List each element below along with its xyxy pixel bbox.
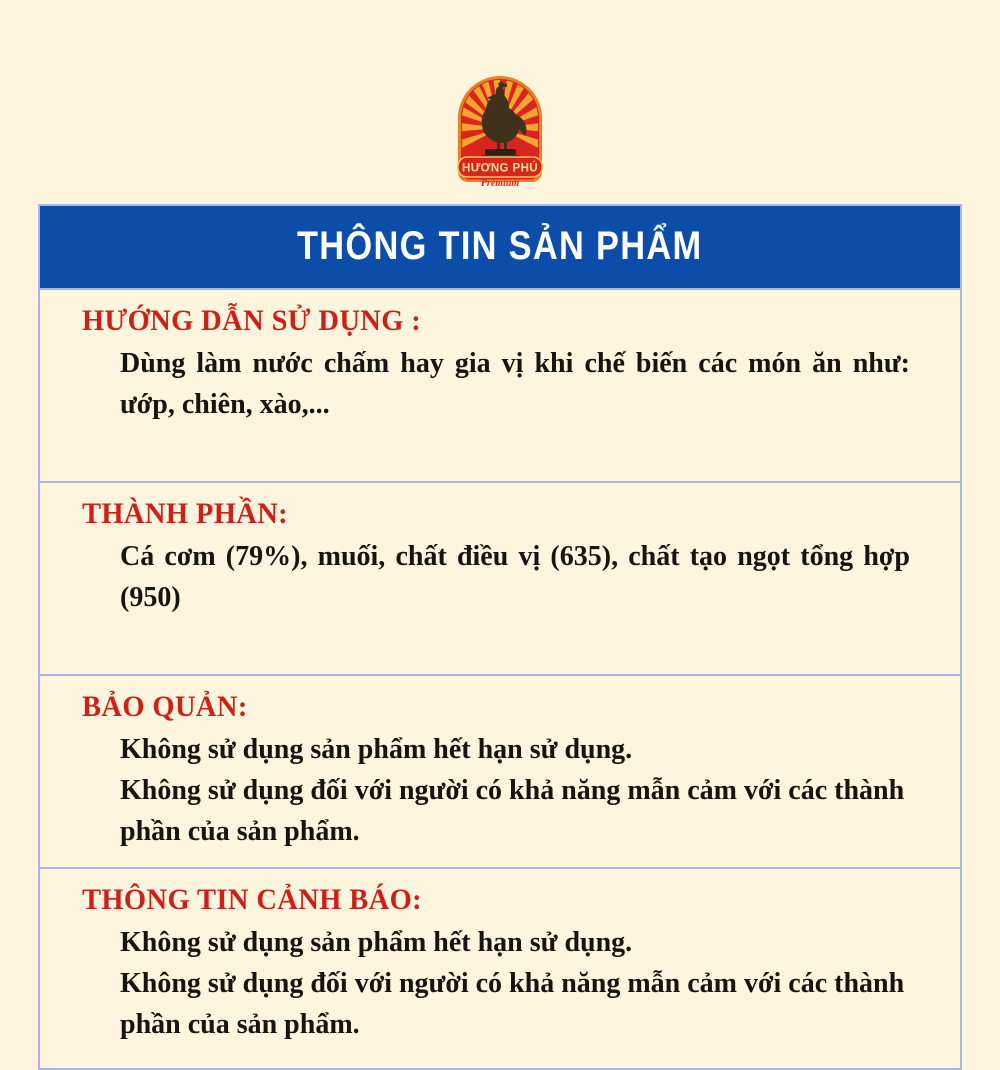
body-line: Không sử dụng đối với người có khả năng … (120, 964, 910, 1046)
product-info-page: HƯƠNG PHÚ Premium THÔNG TIN SẢN PHẨM HƯỚ… (0, 0, 1000, 1000)
rooster-badge-icon: HƯƠNG PHÚ Premium (452, 72, 548, 190)
huong-phu-rooster-logo: HƯƠNG PHÚ Premium (452, 72, 548, 190)
section-huong-dan-su-dung: HƯỚNG DẪN SỬ DỤNG : Dùng làm nước chấm h… (40, 290, 960, 483)
logo-brand-text: HƯƠNG PHÚ (462, 162, 538, 175)
body-line: Không sử dụng sản phẩm hết hạn sử dụng. (120, 730, 910, 771)
section-thong-tin-canh-bao: THÔNG TIN CẢNH BÁO: Không sử dụng sản ph… (40, 869, 960, 1068)
section-title-storage: BẢO QUẢN: (82, 688, 884, 726)
body-line: Không sử dụng sản phẩm hết hạn sử dụng. (120, 923, 910, 964)
logo-tagline-text: Premium (481, 178, 520, 189)
section-bao-quan: BẢO QUẢN: Không sử dụng sản phẩm hết hạn… (40, 676, 960, 869)
body-line: Dùng làm nước chấm hay gia vị khi chế bi… (120, 344, 910, 426)
section-title-ingredients: THÀNH PHẦN: (82, 495, 884, 533)
section-body-warning: Không sử dụng sản phẩm hết hạn sử dụng. … (120, 923, 926, 1046)
page-title: THÔNG TIN SẢN PHẨM (297, 226, 702, 266)
section-thanh-phan: THÀNH PHẦN: Cá cơm (79%), muối, chất điề… (40, 483, 960, 676)
body-line: Cá cơm (79%), muối, chất điều vị (635), … (120, 537, 910, 619)
product-info-box: THÔNG TIN SẢN PHẨM HƯỚNG DẪN SỬ DỤNG : D… (38, 204, 962, 1070)
section-title-usage: HƯỚNG DẪN SỬ DỤNG : (82, 302, 884, 340)
brand-logo-container: HƯƠNG PHÚ Premium (0, 72, 1000, 190)
section-title-warning: THÔNG TIN CẢNH BÁO: (82, 881, 884, 919)
body-line: Không sử dụng đối với người có khả năng … (120, 771, 910, 853)
section-body-storage: Không sử dụng sản phẩm hết hạn sử dụng. … (120, 730, 926, 853)
brand-name-ribbon: HƯƠNG PHÚ (458, 157, 542, 177)
product-info-banner: THÔNG TIN SẢN PHẨM (40, 206, 960, 290)
section-body-usage: Dùng làm nước chấm hay gia vị khi chế bi… (120, 344, 926, 467)
section-body-ingredients: Cá cơm (79%), muối, chất điều vị (635), … (120, 537, 926, 660)
